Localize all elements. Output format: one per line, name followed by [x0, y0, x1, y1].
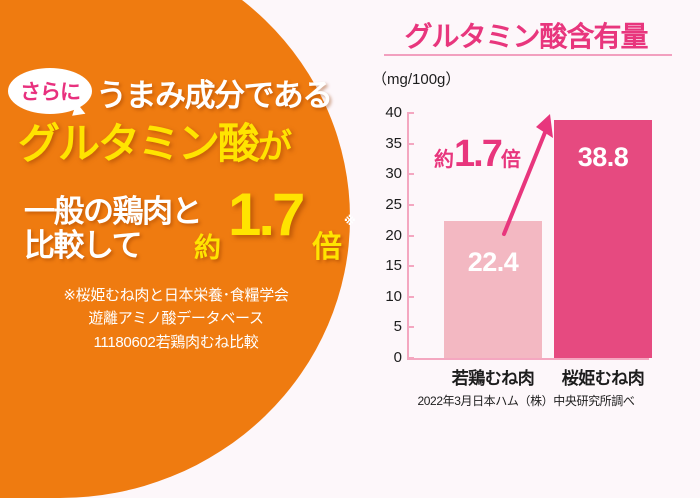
y-tick-label-15: 15: [356, 257, 402, 274]
promo-footnote-line-2: 遊離アミノ酸データベース: [0, 307, 352, 330]
promo-footnote: ※桜姫むね肉と日本栄養･食糧学会 遊離アミノ酸データベース 11180602若鶏…: [0, 284, 352, 354]
y-tick-label-0: 0: [356, 349, 402, 366]
chart-ratio-callout: 約1.7倍: [434, 133, 521, 176]
chart-plot-area: 0510152025303540 22.4 38.8 約1.7倍 若鶏むね肉 桜…: [352, 0, 700, 435]
y-tick-10: [407, 296, 414, 298]
y-tick-30: [407, 173, 414, 175]
y-tick-label-10: 10: [356, 288, 402, 305]
bar-value-wakadori: 22.4: [444, 247, 542, 278]
bar-wakadori: 22.4: [444, 221, 542, 358]
y-tick-20: [407, 235, 414, 237]
promo-ratio-prefix: 約: [194, 226, 221, 265]
promo-footnote-line-3: 11180602若鶏肉むね比較: [0, 331, 352, 354]
y-tick-label-20: 20: [356, 227, 402, 244]
bar-sakurahime: 38.8: [554, 120, 652, 358]
promo-ratio-value: 1.7: [228, 185, 302, 245]
sarani-speech-bubble: さらに: [8, 68, 92, 114]
chart-ratio-prefix: 約: [434, 149, 454, 171]
promo-ratio-suffix: 倍: [312, 222, 342, 266]
sarani-label: さらに: [20, 76, 80, 106]
promo-line-2-main: グルタミン酸: [18, 120, 258, 167]
chart-ratio-value: 1.7: [454, 133, 501, 175]
x-axis-label-sakurahime: 桜姫むね肉: [530, 364, 676, 389]
promo-footnote-line-1: ※桜姫むね肉と日本栄養･食糧学会: [0, 284, 352, 307]
promo-line-3-group: 一般の鶏肉と 比較して 約 1.7 倍 ※: [16, 186, 352, 270]
y-tick-25: [407, 204, 414, 206]
infographic-stage: さらに うまみ成分である グルタミン酸が 一般の鶏肉と 比較して 約 1.7 倍…: [0, 0, 700, 435]
y-tick-label-25: 25: [356, 196, 402, 213]
chart-ratio-suffix: 倍: [501, 149, 521, 171]
promo-line-2-suffix: が: [258, 128, 290, 166]
y-axis-tick-labels: 0510152025303540: [352, 0, 402, 435]
x-axis-line: [407, 358, 649, 360]
y-tick-label-35: 35: [356, 135, 402, 152]
y-tick-label-30: 30: [356, 165, 402, 182]
y-tick-15: [407, 265, 414, 267]
bar-value-sakurahime: 38.8: [554, 142, 652, 173]
promo-line-2: グルタミン酸が: [18, 110, 290, 171]
y-tick-0: [407, 357, 414, 359]
promo-line-1: うまみ成分である: [96, 70, 332, 115]
promo-line-3b: 比較して: [24, 220, 141, 265]
chart-source-note: 2022年3月日本ハム（株）中央研究所調べ: [352, 392, 700, 409]
promo-panel: さらに うまみ成分である グルタミン酸が 一般の鶏肉と 比較して 約 1.7 倍…: [0, 0, 352, 435]
y-tick-40: [407, 112, 414, 114]
y-tick-label-40: 40: [356, 104, 402, 121]
y-tick-label-5: 5: [356, 318, 402, 335]
y-tick-35: [407, 143, 414, 145]
y-axis-line: [407, 113, 409, 360]
y-tick-5: [407, 326, 414, 328]
chart-panel: グルタミン酸含有量 （mg/100g） 0510152025303540 22.…: [352, 0, 700, 435]
